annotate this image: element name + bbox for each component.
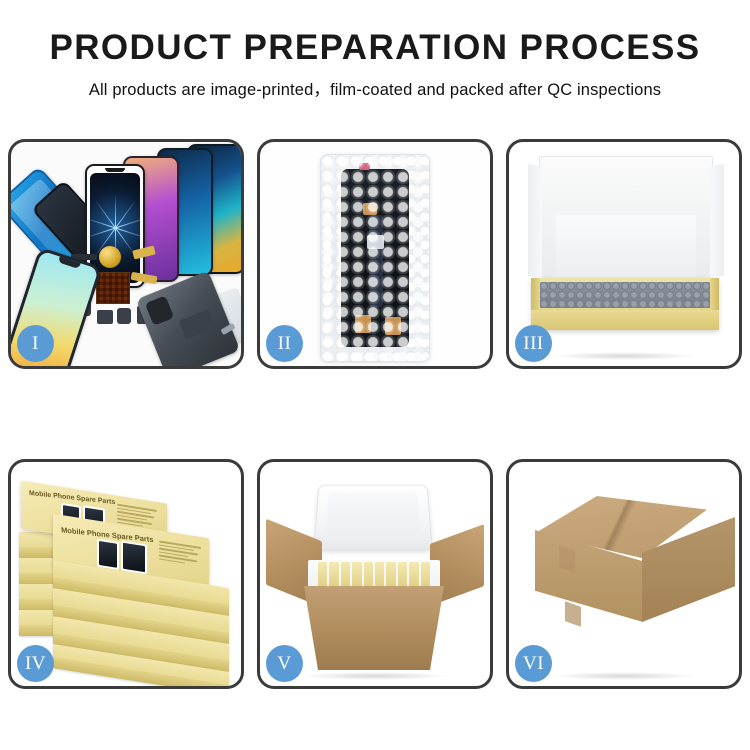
phone-back-housing: [136, 271, 241, 366]
display-flex-cable: [369, 215, 383, 307]
foam-box-lid: [313, 485, 433, 551]
step-badge-1: I: [17, 325, 54, 362]
tan-connector-left: [355, 315, 371, 333]
page-title: PRODUCT PREPARATION PROCESS: [0, 30, 750, 67]
battery-label-area: [179, 309, 216, 340]
foam-lid-recess: [325, 493, 420, 541]
phone-notch-2: [58, 256, 81, 269]
tan-connector-top: [363, 203, 377, 215]
speaker-part: [117, 308, 131, 324]
foam-lid-flap-left: [528, 164, 542, 278]
rear-camera-cutout: [145, 295, 174, 325]
process-step-panel-3: III: [506, 139, 742, 369]
box-thumbnail-b1: [97, 539, 119, 570]
foam-sheet: [556, 215, 696, 277]
process-step-panel-6: VI: [506, 459, 742, 689]
qc-pink-sticker: [359, 163, 370, 170]
drop-shadow: [550, 672, 697, 680]
step-badge-6: VI: [515, 645, 552, 682]
step-badge-4: IV: [17, 645, 54, 682]
product-preparation-page: PRODUCT PREPARATION PROCESS All products…: [0, 0, 750, 750]
box-spec-lines-b: [159, 540, 201, 566]
step-badge-2: II: [266, 325, 303, 362]
carton-body: [304, 586, 444, 670]
process-step-panel-2: II: [257, 139, 493, 369]
driver-ic: [367, 235, 384, 249]
vibration-motor-part: [99, 246, 121, 268]
step-badge-3: III: [515, 325, 552, 362]
drop-shadow: [550, 352, 697, 360]
page-header: PRODUCT PREPARATION PROCESS All products…: [0, 0, 750, 100]
logic-board-chip: [96, 272, 130, 304]
tan-connector-right: [385, 317, 401, 335]
bubble-wrap-bag: [320, 154, 430, 362]
box-thumbnail-b2: [121, 540, 147, 574]
process-step-panel-1: I: [8, 139, 244, 369]
phone-notch: [105, 168, 125, 172]
bubble-wrapped-contents: [540, 282, 710, 308]
process-step-panel-5: V: [257, 459, 493, 689]
tray-front-wall: [531, 310, 719, 330]
foam-lid-flap-right: [710, 164, 724, 278]
page-subtitle: All products are image-printed，film-coat…: [0, 76, 750, 100]
step-badge-5: V: [266, 645, 303, 682]
yellow-paper-tray: [531, 278, 719, 330]
white-foam-lid: [539, 156, 713, 286]
box-stack: Mobile Phone Spare Parts Mobile Phone Sp…: [17, 478, 235, 674]
lcd-screen-assembly: [341, 169, 409, 347]
process-step-panel-4: Mobile Phone Spare Parts Mobile Phone Sp…: [8, 459, 244, 689]
carton-tape-lower: [565, 601, 581, 627]
process-step-grid: I II: [8, 139, 742, 689]
drop-shadow: [301, 672, 448, 680]
button-part: [97, 310, 113, 324]
